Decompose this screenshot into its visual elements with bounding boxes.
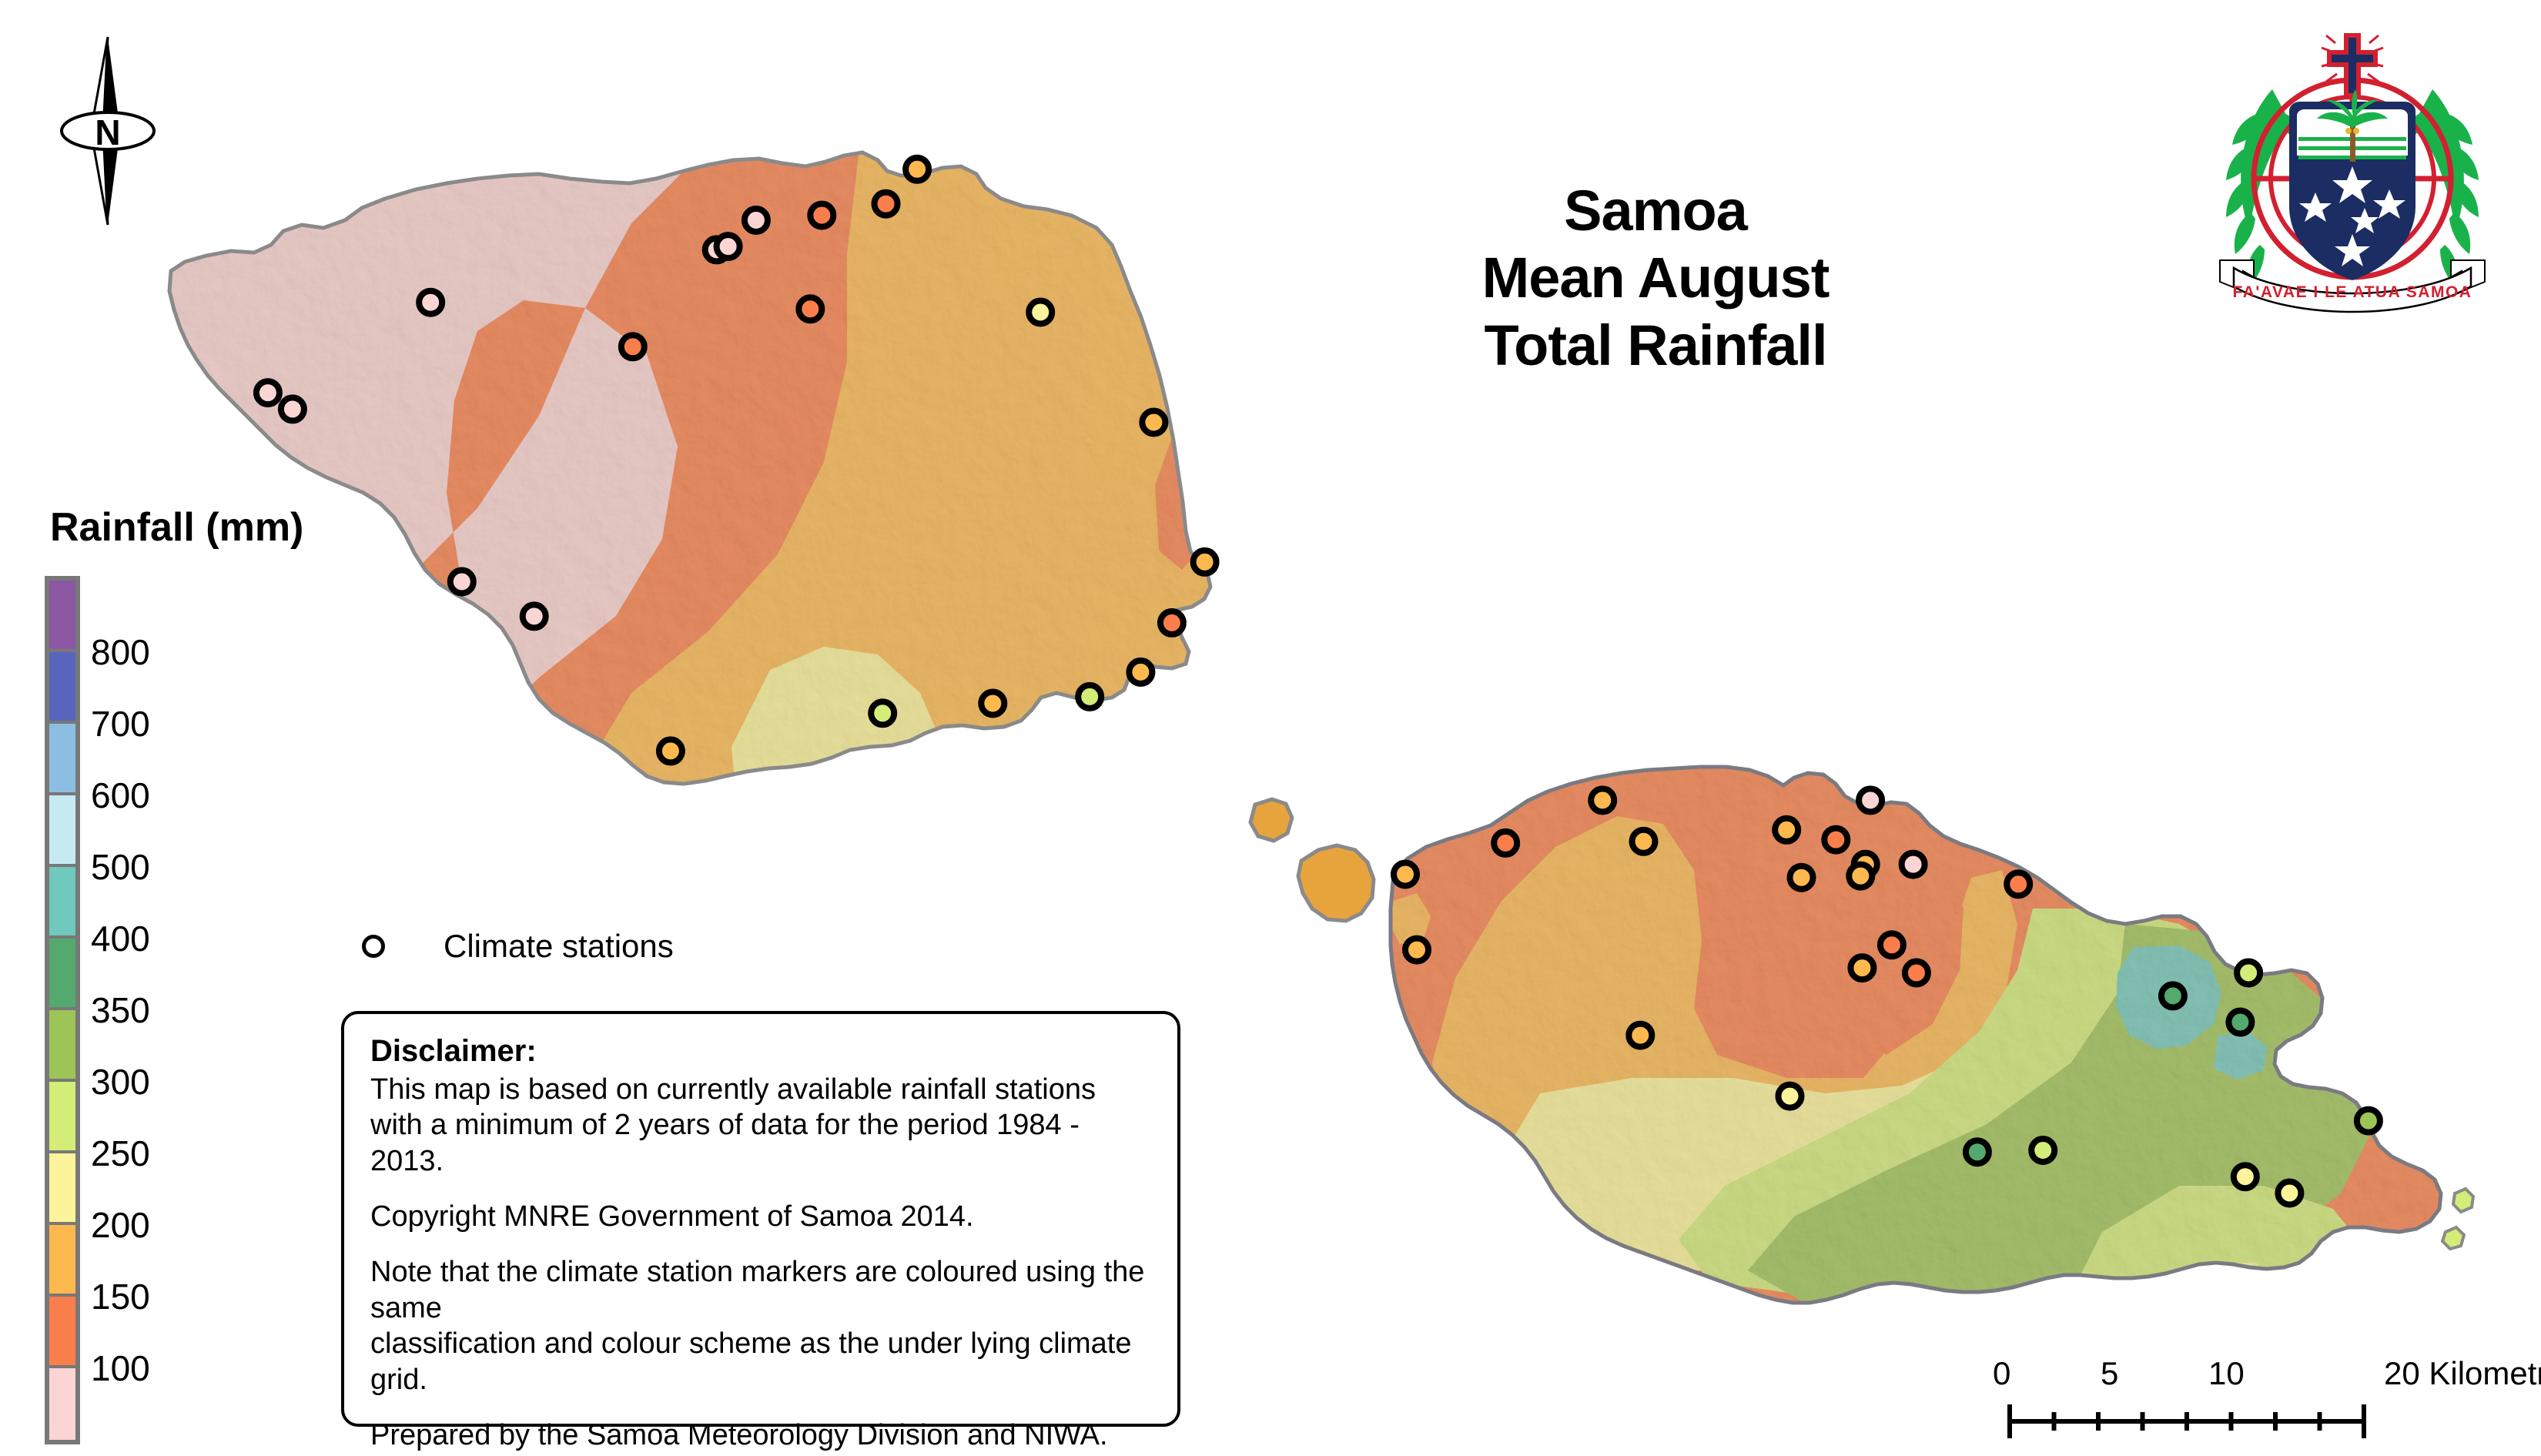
legend-labels: 800700600500400350300250200150100 (91, 576, 245, 1444)
legend-label-600: 600 (91, 778, 150, 813)
legend-label-700: 700 (91, 706, 150, 741)
climate-station-marker (1394, 863, 1417, 886)
climate-station-marker (450, 571, 474, 594)
climate-station-marker (871, 701, 894, 725)
climate-station-marker (981, 692, 1004, 715)
legend-swatch-500 (49, 795, 75, 867)
island-apolima (1250, 799, 1292, 841)
climate-station-marker (1029, 301, 1052, 324)
coat-of-arms-motto: FA'AVAE I LE ATUA SAMOA (2233, 283, 2472, 301)
scale-bar-graphic (2002, 1398, 2433, 1444)
climate-station-marker (1850, 956, 1873, 979)
climate-station-marker (717, 235, 740, 258)
samoa-coat-of-arms-icon: FA'AVAE I LE ATUA SAMOA (2198, 15, 2506, 323)
title-line-3: Total Rainfall (1378, 312, 1933, 379)
scale-tick-label-2: 10 (2208, 1355, 2245, 1392)
legend-label-350: 350 (91, 992, 150, 1028)
climate-station-marker (621, 335, 644, 358)
legend-label-150: 150 (91, 1279, 150, 1314)
climate-station-marker (1591, 788, 1614, 812)
legend-label-300: 300 (91, 1064, 150, 1100)
disclaimer-box: Disclaimer: This map is based on current… (341, 1011, 1180, 1427)
climate-station-marker (1775, 818, 1798, 842)
climate-station-marker (523, 604, 546, 628)
legend-swatch-300 (49, 1010, 75, 1082)
climate-station-marker (1632, 830, 1655, 853)
legend-title: Rainfall (mm) (50, 504, 303, 551)
legend-label-100: 100 (91, 1351, 150, 1386)
climate-station-legend-label: Climate stations (444, 928, 674, 965)
scale-bar: 051020 Kilometres (2002, 1355, 2433, 1448)
climate-station-marker (1790, 866, 1813, 889)
climate-station-marker (1905, 962, 1928, 985)
island-upolu (1378, 755, 2456, 1317)
climate-station-marker (1078, 685, 1101, 708)
climate-station-marker (875, 192, 898, 216)
disclaimer-line-2: with a minimum of 2 years of data for th… (370, 1107, 1151, 1179)
climate-station-marker (256, 381, 280, 404)
climate-station-marker (1859, 788, 1882, 812)
legend-swatch-150 (49, 1225, 75, 1297)
climate-station-marker (419, 291, 442, 314)
climate-station-marker (2007, 872, 2030, 895)
scale-tick-label-0: 0 (1993, 1355, 2010, 1392)
climate-station-marker (2237, 962, 2260, 985)
legend-swatch-100 (49, 1297, 75, 1368)
disclaimer-line-5: classification and colour scheme as the … (370, 1326, 1151, 1397)
scale-tick-label-3: 20 Kilometres (2384, 1355, 2541, 1392)
climate-station-marker (1142, 411, 1165, 434)
climate-station-marker (2161, 984, 2184, 1007)
legend-label-400: 400 (91, 921, 150, 956)
climate-station-marker (2278, 1182, 2301, 1205)
scale-bar-labels: 051020 Kilometres (2002, 1355, 2433, 1398)
climate-station-marker (2031, 1139, 2054, 1162)
climate-station-marker (1193, 551, 1217, 574)
climate-station-marker (1405, 939, 1428, 962)
climate-station-marker (281, 397, 304, 420)
disclaimer-heading: Disclaimer: (370, 1034, 1151, 1069)
climate-station-marker (1902, 853, 1925, 876)
scale-tick-label-1: 5 (2101, 1355, 2118, 1392)
climate-station-marker (1629, 1024, 1652, 1047)
legend-swatch-800 (49, 581, 75, 652)
climate-station-marker (745, 209, 768, 232)
climate-station-marker (2234, 1165, 2257, 1188)
legend-swatch-200 (49, 1153, 75, 1225)
disclaimer-line-3: Copyright MNRE Government of Samoa 2014. (370, 1199, 1151, 1234)
climate-station-marker (906, 158, 929, 181)
legend-label-500: 500 (91, 849, 150, 885)
climate-station-marker (810, 204, 833, 227)
climate-station-marker (1849, 865, 1872, 888)
climate-station-marker (1966, 1140, 1989, 1163)
disclaimer-line-4: Note that the climate station markers ar… (370, 1254, 1151, 1326)
legend-swatch-400 (49, 867, 75, 939)
climate-station-marker (798, 297, 822, 320)
climate-station-marker (2228, 1011, 2251, 1034)
climate-station-marker (1779, 1085, 1802, 1108)
north-arrow-label: N (95, 112, 120, 152)
climate-station-marker (1494, 832, 1517, 855)
climate-station-marker (659, 739, 682, 762)
legend-swatch-350 (49, 939, 75, 1010)
legend-label-250: 250 (91, 1136, 150, 1171)
legend-swatch-700 (49, 652, 75, 724)
legend-swatch-250 (49, 1082, 75, 1153)
legend-label-800: 800 (91, 634, 150, 670)
climate-station-marker (1129, 661, 1152, 684)
islet-nuulua (2442, 1189, 2473, 1249)
climate-station-marker (1824, 828, 1847, 852)
title-line-1: Samoa (1378, 177, 1933, 244)
north-arrow-icon: N (46, 23, 169, 239)
legend-item-climate-stations: Climate stations (362, 928, 674, 965)
title-line-2: Mean August (1378, 244, 1933, 311)
climate-station-marker (2357, 1110, 2380, 1133)
climate-station-icon (362, 935, 385, 958)
legend-swatch-top (49, 1368, 75, 1440)
climate-station-marker (1160, 611, 1183, 634)
disclaimer-line-1: This map is based on currently available… (370, 1072, 1151, 1107)
island-manono (1298, 845, 1374, 921)
page-title: Samoa Mean August Total Rainfall (1378, 177, 1933, 379)
disclaimer-line-6: Prepared by the Samoa Meteorology Divisi… (370, 1418, 1151, 1453)
island-savaii (139, 115, 1278, 828)
legend-label-200: 200 (91, 1207, 150, 1243)
climate-station-marker (1880, 933, 1903, 956)
legend-color-ramp (45, 576, 80, 1444)
legend-swatch-600 (49, 724, 75, 795)
